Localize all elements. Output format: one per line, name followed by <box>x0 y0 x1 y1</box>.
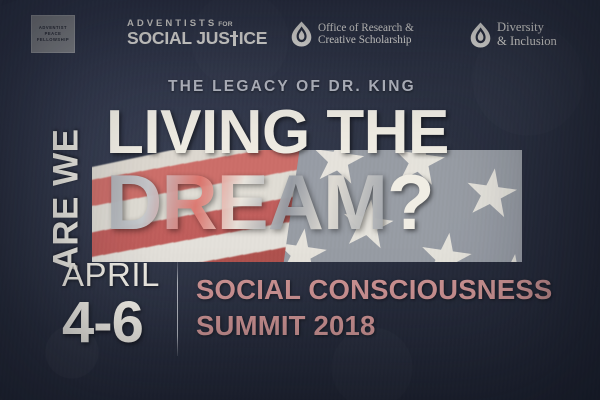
event-month: APRIL <box>62 258 160 291</box>
ors-line-1: Office of Research & <box>318 22 414 34</box>
event-date-block: APRIL 4-6 <box>62 258 160 352</box>
di-line-1: Diversity <box>497 21 557 35</box>
flame-shield-icon <box>291 21 312 47</box>
headline-line-2-wrapper: DREAM? <box>106 163 435 241</box>
asj-ice-text: ICE <box>239 30 268 48</box>
ors-line-2: Creative Scholarship <box>318 34 414 46</box>
asj-social-jus-text: SOCIAL JUS <box>127 30 230 48</box>
event-title-line-1: SOCIAL CONSCIOUSNESS <box>196 272 552 308</box>
event-title-block: SOCIAL CONSCIOUSNESS SUMMIT 2018 <box>196 272 552 345</box>
apf-line-3: FELLOWSHIP <box>37 38 69 42</box>
logo-adventists-for-social-justice: ADVENTISTS FOR SOCIAL JUS ICE <box>127 18 267 48</box>
di-line-2: & Inclusion <box>497 35 557 49</box>
logo-office-of-research: Office of Research & Creative Scholarshi… <box>291 21 414 47</box>
headline-line-1: LIVING THE <box>106 102 449 164</box>
headline-question-mark: ? <box>387 158 435 246</box>
logo-diversity-inclusion: Diversity & Inclusion <box>470 21 557 48</box>
apf-line-1: ADVENTIST <box>39 26 67 30</box>
sponsor-logo-row: ADVENTIST PEACE FELLOWSHIP ADVENTISTS FO… <box>0 0 600 66</box>
logo-adventist-peace-fellowship: ADVENTIST PEACE FELLOWSHIP <box>31 15 75 53</box>
headline-line-2: DREAM <box>106 158 387 246</box>
kicker-text: THE LEGACY OF DR. KING <box>168 78 416 96</box>
event-days: 4-6 <box>62 293 160 352</box>
vertical-are-we-text: ARE WE <box>47 129 87 272</box>
asj-bottom-line: SOCIAL JUS ICE <box>127 30 267 48</box>
vertical-divider <box>177 262 178 356</box>
event-poster: ADVENTIST PEACE FELLOWSHIP ADVENTISTS FO… <box>0 0 600 400</box>
apf-line-2: PEACE <box>45 32 62 36</box>
asj-for-text: FOR <box>218 21 233 28</box>
flame-shield-icon <box>470 22 491 48</box>
event-title-line-2: SUMMIT 2018 <box>196 308 552 344</box>
ors-name-block: Office of Research & Creative Scholarshi… <box>318 22 414 46</box>
di-name-block: Diversity & Inclusion <box>497 21 557 48</box>
